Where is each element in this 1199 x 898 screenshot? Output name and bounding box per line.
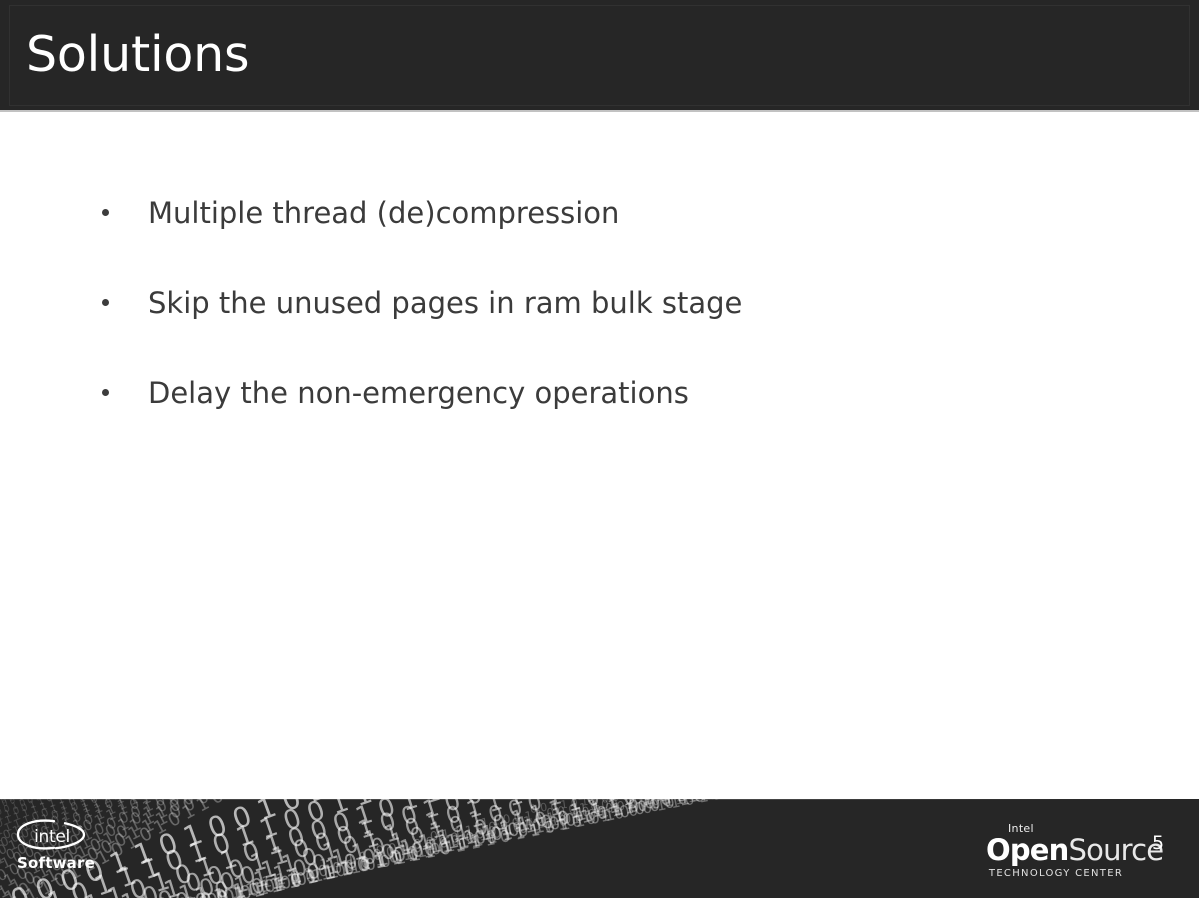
svg-text:®: ® — [77, 825, 83, 832]
bullet-marker-icon — [102, 299, 109, 306]
ostc-source-word: Source — [1069, 833, 1164, 867]
binary-row: 0000001000011001111011010100101000001100… — [136, 799, 1010, 898]
slide-body: Multiple thread (de)compression Skip the… — [0, 112, 1199, 799]
binary-row: 1010111011010111111111001111110111100110… — [2, 799, 1050, 898]
binary-row: 0001011001010110101111000010001010101100… — [529, 799, 950, 816]
list-item: Delay the non-emergency operations — [96, 374, 1096, 464]
binary-row: 0011010101010001101101000111100111100000… — [0, 799, 1092, 898]
binary-row: 0101110110001010100010001010100110001010 — [0, 799, 57, 807]
page-title: Solutions — [26, 25, 249, 85]
bullet-marker-icon — [102, 209, 109, 216]
binary-row: 1100110001001101110011011111010110011000… — [480, 799, 952, 830]
binary-row: 1010000000010000101110011000100001000001… — [0, 799, 817, 898]
binary-row: 0110010011110101101100110100100110100001… — [0, 799, 121, 817]
intel-software-logo: intel ® Software — [13, 818, 105, 884]
binary-row: 0000000000100110001110101110100100010100… — [375, 799, 963, 859]
slide: Solutions Multiple thread (de)compressio… — [0, 0, 1199, 898]
bullet-text: Multiple thread (de)compression — [148, 194, 1096, 232]
binary-row: 1101101010110101001101110101000010110011… — [0, 799, 884, 898]
bullet-text: Skip the unused pages in ram bulk stage — [148, 284, 1096, 322]
binary-row: 0011101001010111001010111100000000001101… — [0, 799, 954, 898]
binary-row: 1111001010101010010111110010101011001001… — [318, 799, 970, 874]
ostc-wordmark: OpenSource — [986, 835, 1126, 866]
binary-row: 1101001010110111111111001000110111100111… — [260, 799, 982, 891]
footer-divider — [0, 799, 1199, 800]
binary-row: 0001110100000101001111111000011011100000… — [0, 799, 84, 811]
binary-row: 0000111011111111001101110001110100111110… — [0, 799, 69, 809]
svg-text:intel: intel — [34, 827, 70, 847]
binary-row: 0011100111100110000001000111111011110110… — [0, 799, 102, 813]
binary-row: 0111000010101000000011000010100001100001… — [429, 799, 957, 844]
bullet-list: Multiple thread (de)compression Skip the… — [96, 194, 1096, 464]
binary-row: 0100001001110110101110011110001100110001 — [0, 799, 53, 806]
binary-row: 1100010111110100010111001101010100010001… — [0, 799, 1119, 898]
bullet-text: Delay the non-emergency operations — [148, 374, 1096, 412]
binary-row: 0011111100011011101000110001001111111010… — [70, 799, 1028, 898]
intel-wordmark-icon: intel ® — [13, 818, 91, 852]
page-number: 5 — [1152, 832, 1164, 854]
slide-header: Solutions — [0, 0, 1199, 110]
binary-row: 0111001000001110001010010000010010000111… — [0, 799, 1039, 898]
binary-row: 0111110111010101101010101100001011110001… — [0, 799, 1114, 898]
intel-software-label: Software — [13, 855, 105, 872]
bullet-marker-icon — [102, 389, 109, 396]
ostc-tagline: TECHNOLOGY CENTER — [986, 867, 1126, 880]
ostc-open-word: Open — [986, 833, 1069, 867]
list-item: Skip the unused pages in ram bulk stage — [96, 284, 1096, 374]
binary-row: 0011110010100111011101101101000010110001… — [199, 799, 995, 898]
intel-opensource-tc-logo: Intel OpenSource TECHNOLOGY CENTER — [986, 823, 1126, 880]
list-item: Multiple thread (de)compression — [96, 194, 1096, 284]
binary-row: 0011110000100111010011010100110100110101… — [0, 799, 752, 898]
